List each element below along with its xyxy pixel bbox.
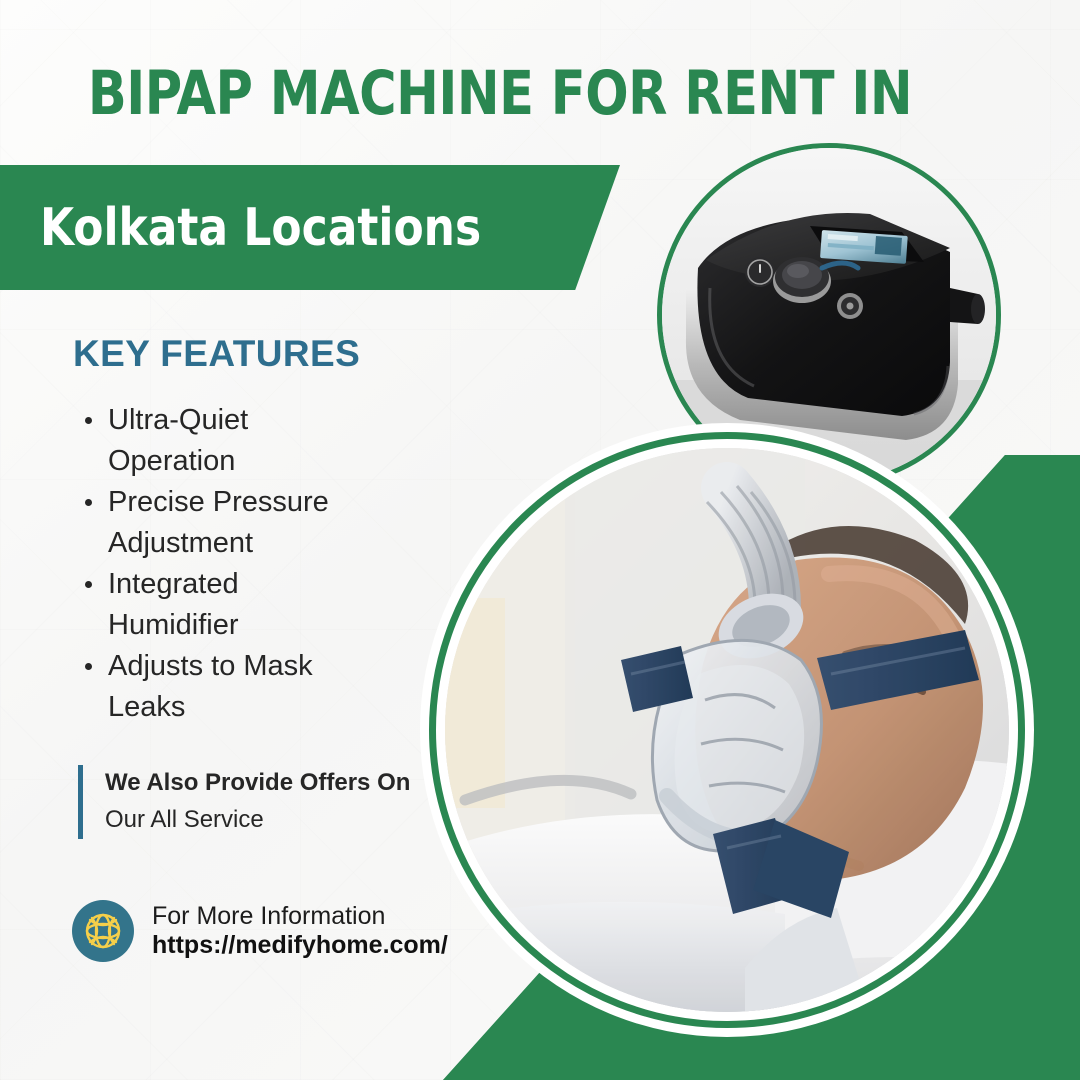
list-item: Integrated Humidifier bbox=[72, 564, 372, 646]
list-item: Adjusts to Mask Leaks bbox=[72, 646, 372, 728]
brand-logo bbox=[72, 900, 134, 962]
offers-headline: We Also Provide Offers On bbox=[105, 765, 410, 801]
offers-callout: We Also Provide Offers On Our All Servic… bbox=[78, 765, 410, 839]
list-item: Precise Pressure Adjustment bbox=[72, 482, 372, 564]
offers-subline: Our All Service bbox=[105, 801, 410, 839]
footer-website-url[interactable]: https://medifyhome.com/ bbox=[152, 931, 448, 961]
page-title: BIPAP MACHINE FOR RENT IN bbox=[35, 62, 965, 126]
globe-atom-icon bbox=[78, 906, 128, 956]
patient-sleeping-illustration bbox=[445, 448, 1009, 1012]
patient-image-inner bbox=[445, 448, 1009, 1012]
patient-image bbox=[429, 432, 1025, 1028]
key-features-list: Ultra-Quiet Operation Precise Pressure A… bbox=[72, 400, 372, 728]
list-item: Ultra-Quiet Operation bbox=[72, 400, 372, 482]
footer-info-label: For More Information bbox=[152, 902, 448, 932]
footer-text-block: For More Information https://medifyhome.… bbox=[152, 902, 448, 961]
key-features-heading: KEY FEATURES bbox=[73, 333, 360, 375]
location-banner: Kolkata Locations bbox=[0, 165, 620, 290]
footer-contact: For More Information https://medifyhome.… bbox=[72, 900, 448, 962]
poster-canvas: BIPAP MACHINE FOR RENT IN Kolkata Locati… bbox=[0, 0, 1080, 1080]
location-banner-label: Kolkata Locations bbox=[40, 198, 481, 258]
